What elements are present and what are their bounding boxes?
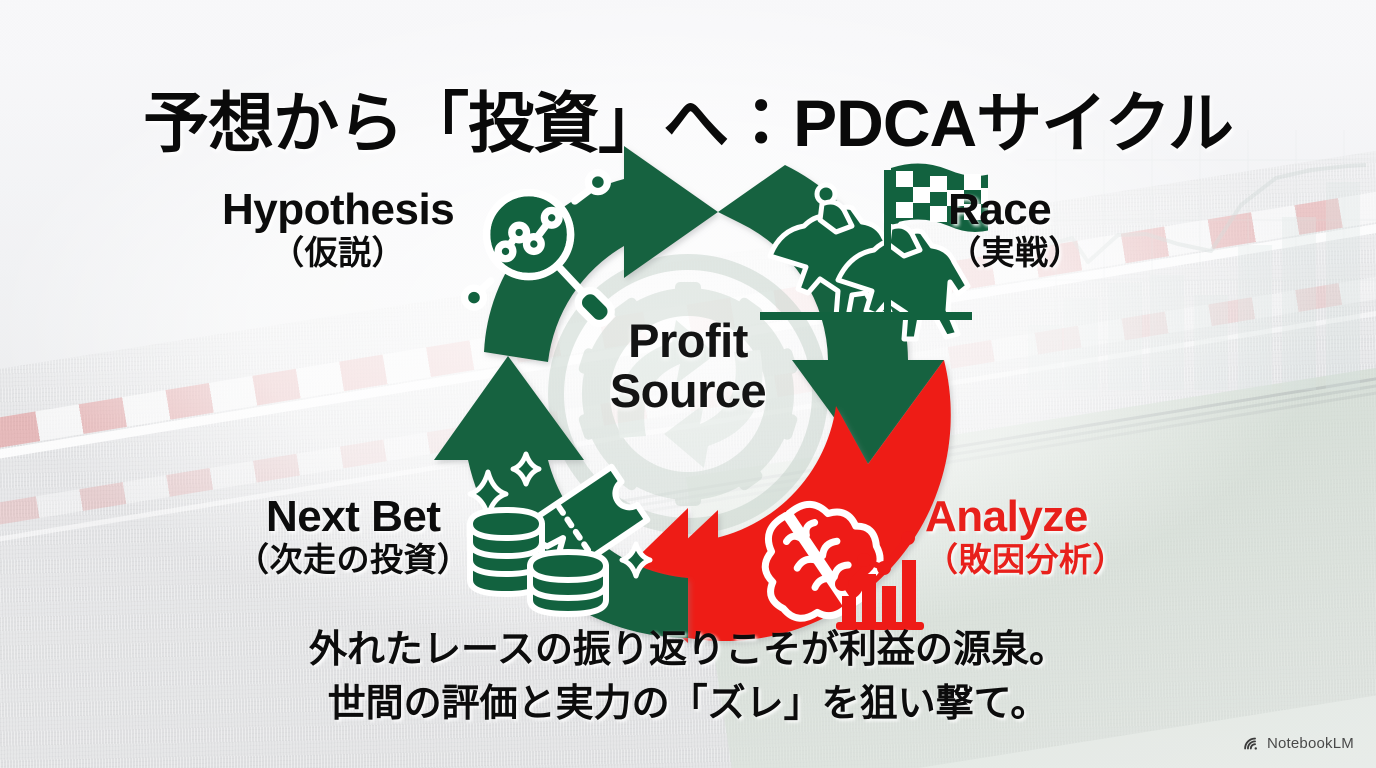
slide-canvas: 予想から「投資」へ：PDCAサイクル [0, 0, 1376, 768]
stage-label-hypothesis: Hypothesis （仮説） [222, 188, 454, 273]
pdca-cycle-diagram: Profit Source [388, 138, 988, 650]
stage-label-analyze-en: Analyze [925, 495, 1126, 539]
stage-label-hypothesis-jp: （仮説） [222, 232, 454, 273]
notebooklm-watermark: NotebookLM [1243, 735, 1354, 752]
stage-label-race: Race （実戦） [948, 188, 1082, 273]
stage-label-nextbet: Next Bet （次走の投資） [236, 495, 471, 580]
stage-label-analyze-jp: （敗因分析） [925, 539, 1126, 580]
cycle-arrows [388, 138, 988, 650]
stage-label-analyze: Analyze （敗因分析） [925, 495, 1126, 580]
stage-label-race-en: Race [948, 188, 1082, 232]
notebooklm-logo-icon [1243, 735, 1260, 752]
stage-label-hypothesis-en: Hypothesis [222, 188, 454, 232]
caption-line-2: 世間の評価と実力の「ズレ」を狙い撃て。 [0, 678, 1376, 732]
caption-line-1: 外れたレースの振り返りこそが利益の源泉。 [0, 624, 1376, 678]
notebooklm-label: NotebookLM [1267, 735, 1354, 752]
stage-label-nextbet-jp: （次走の投資） [236, 539, 471, 580]
slide-caption: 外れたレースの振り返りこそが利益の源泉。 世間の評価と実力の「ズレ」を狙い撃て。 [0, 624, 1376, 732]
stage-label-race-jp: （実戦） [948, 232, 1082, 273]
stage-label-nextbet-en: Next Bet [236, 495, 471, 539]
